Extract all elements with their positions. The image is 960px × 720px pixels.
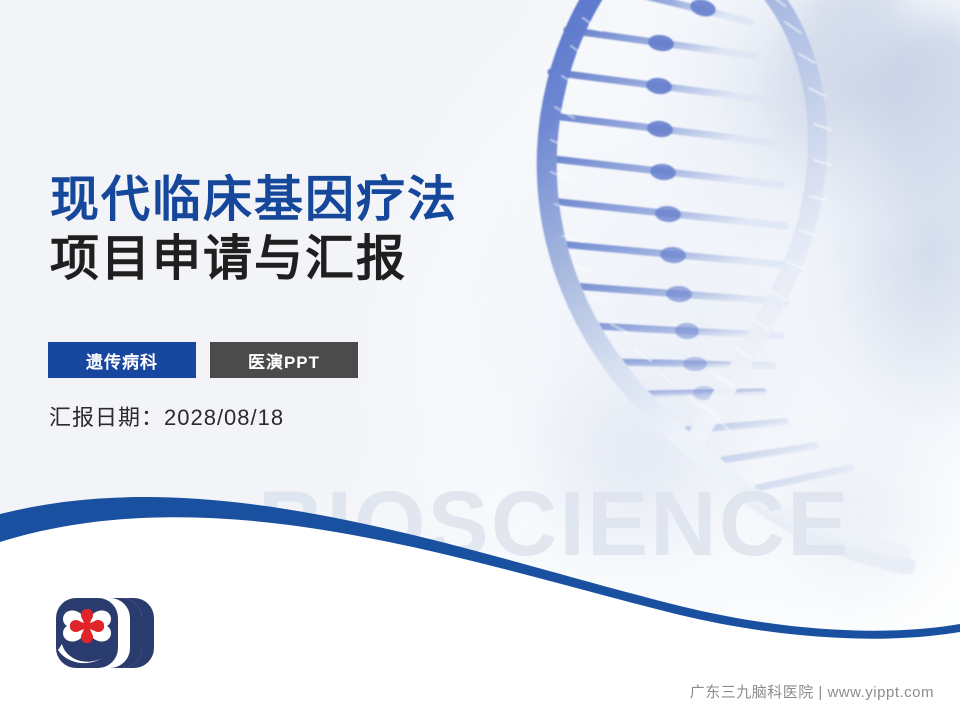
title-line-secondary: 项目申请与汇报 <box>50 231 458 287</box>
page-title: 现代临床基因疗法 项目申请与汇报 <box>50 172 458 288</box>
title-line-primary: 现代临床基因疗法 <box>50 172 458 228</box>
footer-credit: 广东三九脑科医院 | www.yippt.com <box>690 681 934 702</box>
status-badge-department[interactable]: 遗传病科 <box>48 342 196 378</box>
status-badge-template[interactable]: 医演PPT <box>210 342 358 378</box>
report-date-text: 汇报日期：2028/08/18 <box>49 400 284 432</box>
presentation-slide: BIOSCIENCE 现代临床基因疗法 项目申请与汇报 遗传病科 医演PPT 汇… <box>0 0 960 720</box>
hospital-logo-icon <box>44 592 162 674</box>
badge-group: 遗传病科 医演PPT <box>48 342 358 378</box>
